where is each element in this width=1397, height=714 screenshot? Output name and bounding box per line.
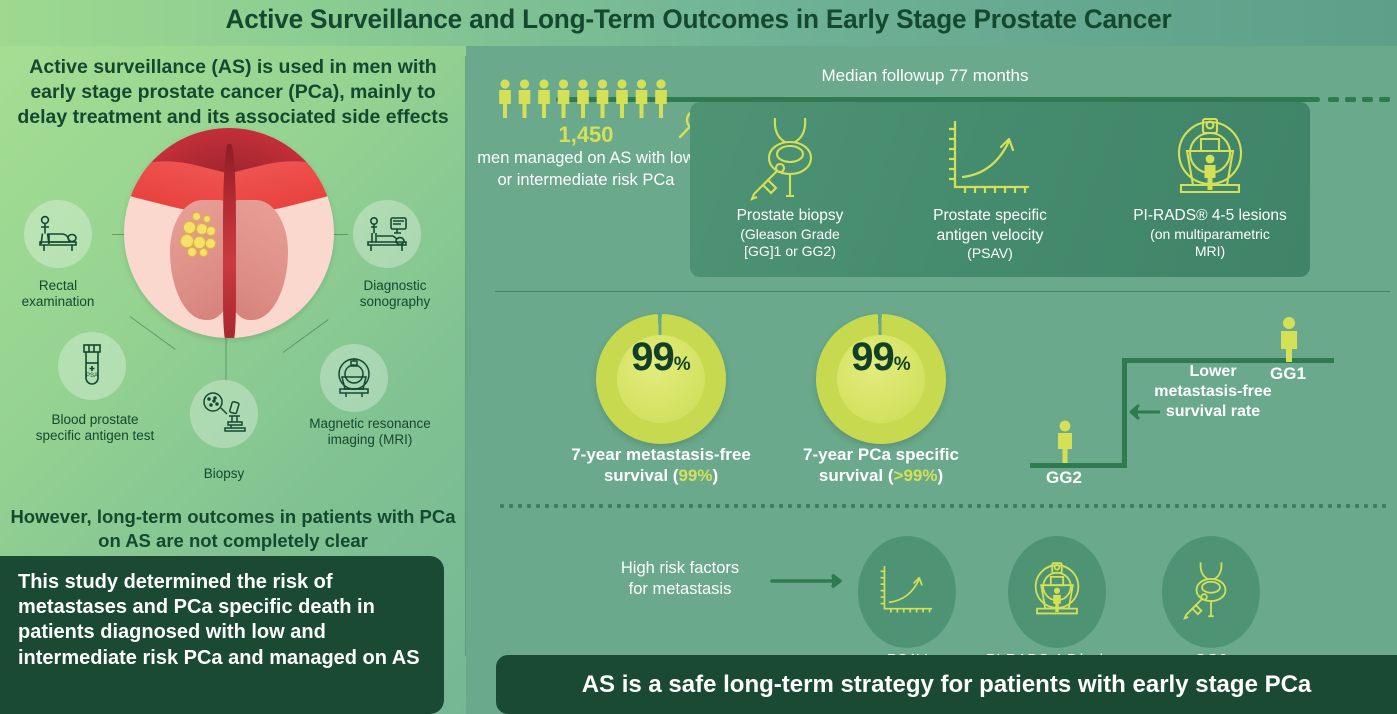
node-biopsy[interactable] xyxy=(190,380,258,448)
rectal-examination-icon xyxy=(35,214,81,254)
criterion-sub-1: (PSAV) xyxy=(900,245,1080,263)
person-gg1-icon xyxy=(1276,316,1302,367)
donut-value: 99 xyxy=(631,335,674,380)
risk-factor-pirads: PI-RADS 4-5 lesions xyxy=(1008,536,1106,670)
connector-biopsy xyxy=(226,333,227,381)
infographic-page: Active Surveillance and Long-Term Outcom… xyxy=(0,0,1397,714)
node-label-biopsy: Biopsy xyxy=(164,466,284,482)
node-label-blood-psa-test: Blood prostate specific antigen test xyxy=(10,412,180,445)
panel-vertical-divider xyxy=(465,56,466,656)
criterion-title: PI-RADS® 4-5 lesions xyxy=(1115,206,1305,226)
grade-label-gg2: GG2 xyxy=(1046,468,1082,488)
risk-factor-gg2: GG2 xyxy=(1162,536,1260,670)
microscope-biopsy-icon xyxy=(201,392,247,436)
node-rectal-examination[interactable] xyxy=(24,200,92,268)
criterion-sub-1: (on multiparametric xyxy=(1115,226,1305,244)
left-intro-text: Active surveillance (AS) is used in men … xyxy=(8,55,458,130)
criterion-title-line-2: antigen velocity xyxy=(900,226,1080,246)
page-title: Active Surveillance and Long-Term Outcom… xyxy=(21,4,1376,35)
criterion-pirads: PI-RADS® 4-5 lesions (on multiparametric… xyxy=(1115,110,1305,261)
prostate-biopsy-needle-icon xyxy=(700,110,880,206)
highlight-value: >99% xyxy=(894,466,938,485)
person-gg2-icon xyxy=(1054,420,1076,469)
criterion-sub-2: MRI) xyxy=(1115,243,1305,261)
node-blood-psa-test[interactable]: PSA xyxy=(58,332,126,400)
donut-center: 99 % xyxy=(617,335,705,423)
risk-factor-bubble xyxy=(858,536,956,648)
cohort-description: men managed on AS with low or intermedia… xyxy=(476,148,696,192)
study-objective-box: This study determined the risk of metast… xyxy=(0,556,444,714)
node-mri[interactable] xyxy=(320,344,388,412)
criterion-title-line-1: Prostate specific xyxy=(900,206,1080,226)
risk-factor-bubble xyxy=(1162,536,1260,648)
tumor-cluster xyxy=(178,212,222,260)
mri-scanner-icon xyxy=(1027,559,1087,626)
highlight-value: 99% xyxy=(678,466,712,485)
svg-text:PSA: PSA xyxy=(86,373,98,379)
conclusion-banner: AS is a safe long-term strategy for pati… xyxy=(496,655,1397,714)
donut-unit: % xyxy=(674,354,691,376)
criterion-psa-velocity: Prostate specific antigen velocity (PSAV… xyxy=(900,110,1080,263)
mri-scanner-icon xyxy=(331,357,377,399)
median-followup-label: Median followup 77 months xyxy=(700,66,1150,86)
node-diagnostic-sonography[interactable] xyxy=(353,200,421,268)
people-pictogram-row xyxy=(496,78,674,118)
risk-factor-bubble xyxy=(1008,536,1106,648)
node-label-mri: Magnetic resonance imaging (MRI) xyxy=(280,416,460,449)
criterion-sub-2: [GG]1 or GG2) xyxy=(700,243,880,261)
left-however-text: However, long-term outcomes in patients … xyxy=(8,505,458,553)
cohort-count: 1,450 xyxy=(480,122,692,148)
node-label-diagnostic-sonography: Diagnostic sonography xyxy=(332,278,458,311)
grade-comparison-note: Lower metastasis-free survival rate xyxy=(1138,362,1288,422)
donut-metastasis-free-survival: 99 % xyxy=(596,314,726,444)
mri-scanner-icon xyxy=(1115,110,1305,206)
timeline-trailing-dots xyxy=(1328,97,1390,102)
donut-caption-pca-specific: 7-year PCa specific survival (>99%) xyxy=(766,444,996,487)
psa-velocity-curve-icon xyxy=(878,563,936,622)
criterion-prostate-biopsy: Prostate biopsy (Gleason Grade [GG]1 or … xyxy=(700,110,880,261)
blood-test-tube-psa-icon: PSA xyxy=(76,343,108,389)
criterion-sub-1: (Gleason Grade xyxy=(700,226,880,244)
criterion-title: Prostate biopsy xyxy=(700,206,880,226)
donut-unit: % xyxy=(894,354,911,376)
diagnostic-sonography-icon xyxy=(363,214,411,254)
donut-center: 99 % xyxy=(837,335,925,423)
section-divider-line xyxy=(495,291,1390,292)
donut-value: 99 xyxy=(851,335,894,380)
psa-velocity-curve-icon xyxy=(900,110,1080,206)
dotted-section-divider xyxy=(500,504,1390,508)
risk-factor-psav: PSAV xyxy=(858,536,956,670)
prostate-biopsy-needle-icon xyxy=(1182,558,1240,627)
node-label-rectal-examination: Rectal examination xyxy=(0,278,116,311)
prostate-anatomy-illustration xyxy=(124,128,334,338)
right-arrow-icon xyxy=(770,572,850,595)
high-risk-factors-heading: High risk factors for metastasis xyxy=(590,558,770,601)
donut-caption-metastasis-free: 7-year metastasis-free survival (99%) xyxy=(546,444,776,487)
donut-pca-specific-survival: 99 % xyxy=(816,314,946,444)
